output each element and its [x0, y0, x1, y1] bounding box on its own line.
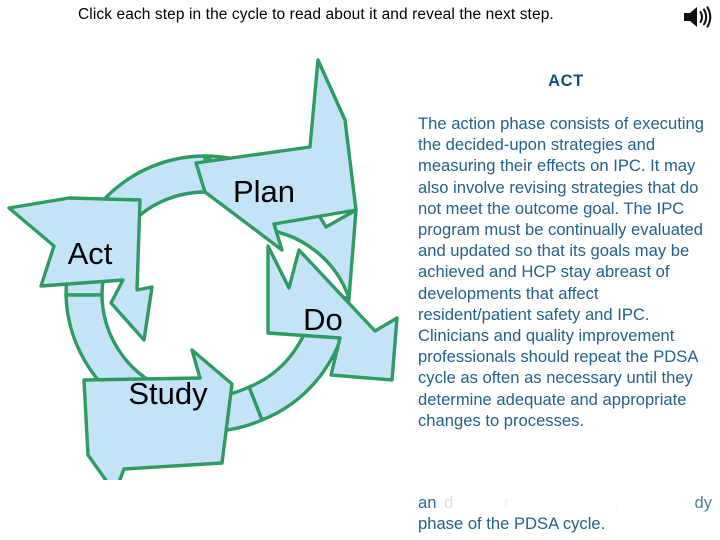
footer-transition-text: an d r . dy phase of the PDSA cycle.: [418, 492, 714, 534]
footer-fragment-3: r: [504, 492, 510, 513]
step-detail-panel: ACT The action phase consists of executi…: [416, 72, 712, 431]
cycle-step-study[interactable]: Study: [66, 295, 232, 480]
footer-fragment-5: dy: [694, 492, 712, 513]
audio-play-button[interactable]: [681, 4, 713, 30]
instruction-bar: Click each step in the cycle to read abo…: [0, 0, 720, 36]
footer-fading-line: an d r . dy: [418, 492, 714, 513]
pdsa-cycle-diagram: Plan Do Study Act: [0, 50, 400, 480]
speaker-volume-icon: [681, 4, 713, 30]
footer-fragment-1: an: [418, 492, 436, 513]
instruction-text: Click each step in the cycle to read abo…: [78, 5, 554, 25]
footer-fragment-4: .: [614, 492, 619, 513]
step-detail-body: The action phase consists of executing t…: [416, 113, 712, 431]
footer-solid-line: phase of the PDSA cycle.: [418, 513, 714, 534]
footer-fragment-2: d: [444, 492, 453, 513]
step-detail-heading: ACT: [416, 72, 712, 91]
